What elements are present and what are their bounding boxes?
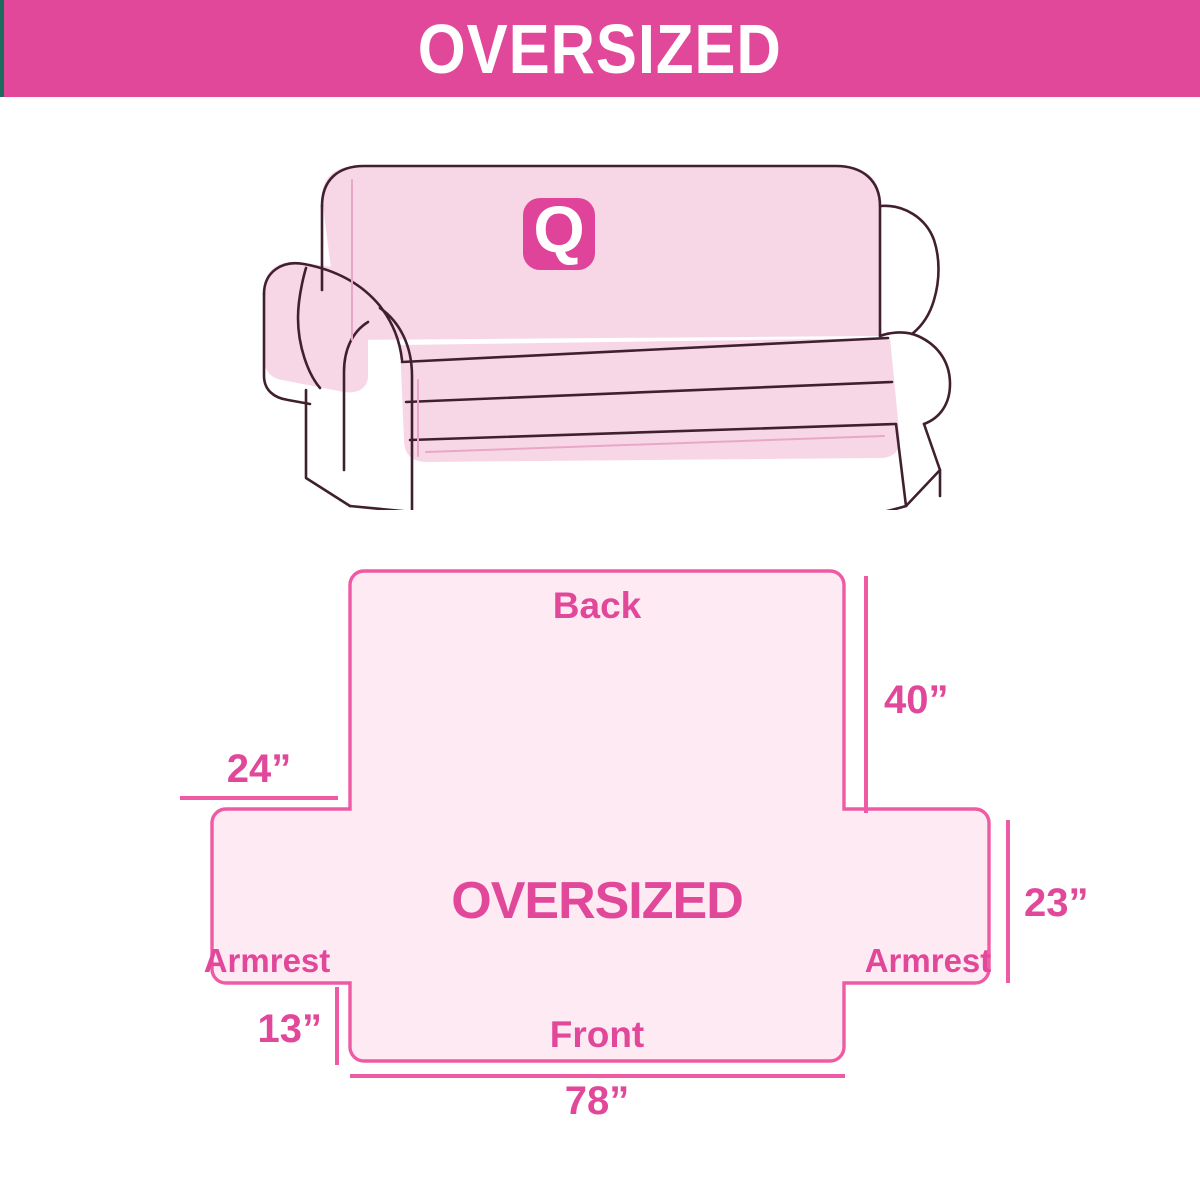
label-front: Front <box>550 1014 645 1055</box>
sofa-right-arm-top <box>880 206 939 334</box>
label-armrest-right: Armrest <box>865 942 992 979</box>
label-back: Back <box>553 585 642 626</box>
sofa-right-inner-edge <box>896 424 906 506</box>
brand-logo: Q <box>523 192 595 270</box>
header-banner: OVERSIZED <box>0 0 1200 97</box>
dimension-armrest-depth-value: 23” <box>1024 881 1089 925</box>
header-edge-strip <box>0 0 4 97</box>
logo-letter: Q <box>533 192 584 266</box>
dimension-back-height-value: 40” <box>884 678 949 722</box>
dimension-back-height: 40” <box>866 576 949 813</box>
sofa-back-fill <box>322 166 880 340</box>
dimension-front-drop: 13” <box>258 987 338 1065</box>
dimension-armrest-width: 24” <box>180 747 338 798</box>
sofa-base-right <box>906 470 940 506</box>
sofa-base-front <box>412 506 906 510</box>
dimension-armrest-depth: 23” <box>1008 820 1089 983</box>
page-title: OVERSIZED <box>418 14 782 84</box>
cover-outline <box>212 571 989 1061</box>
cover-shape <box>200 560 1010 1080</box>
dimension-armrest-width-value: 24” <box>227 747 292 791</box>
sofa-illustration: Q <box>240 140 970 510</box>
label-armrest-left: Armrest <box>204 942 331 979</box>
label-center-size: OVERSIZED <box>451 872 743 930</box>
dimension-overall-width: 78” <box>350 1076 845 1123</box>
sofa-left-base-edge <box>350 506 412 510</box>
swatch-diagram: Back OVERSIZED Armrest Armrest Front 40”… <box>0 520 1200 1140</box>
dimension-overall-width-value: 78” <box>565 1079 630 1123</box>
dimension-front-drop-value: 13” <box>258 1007 323 1051</box>
